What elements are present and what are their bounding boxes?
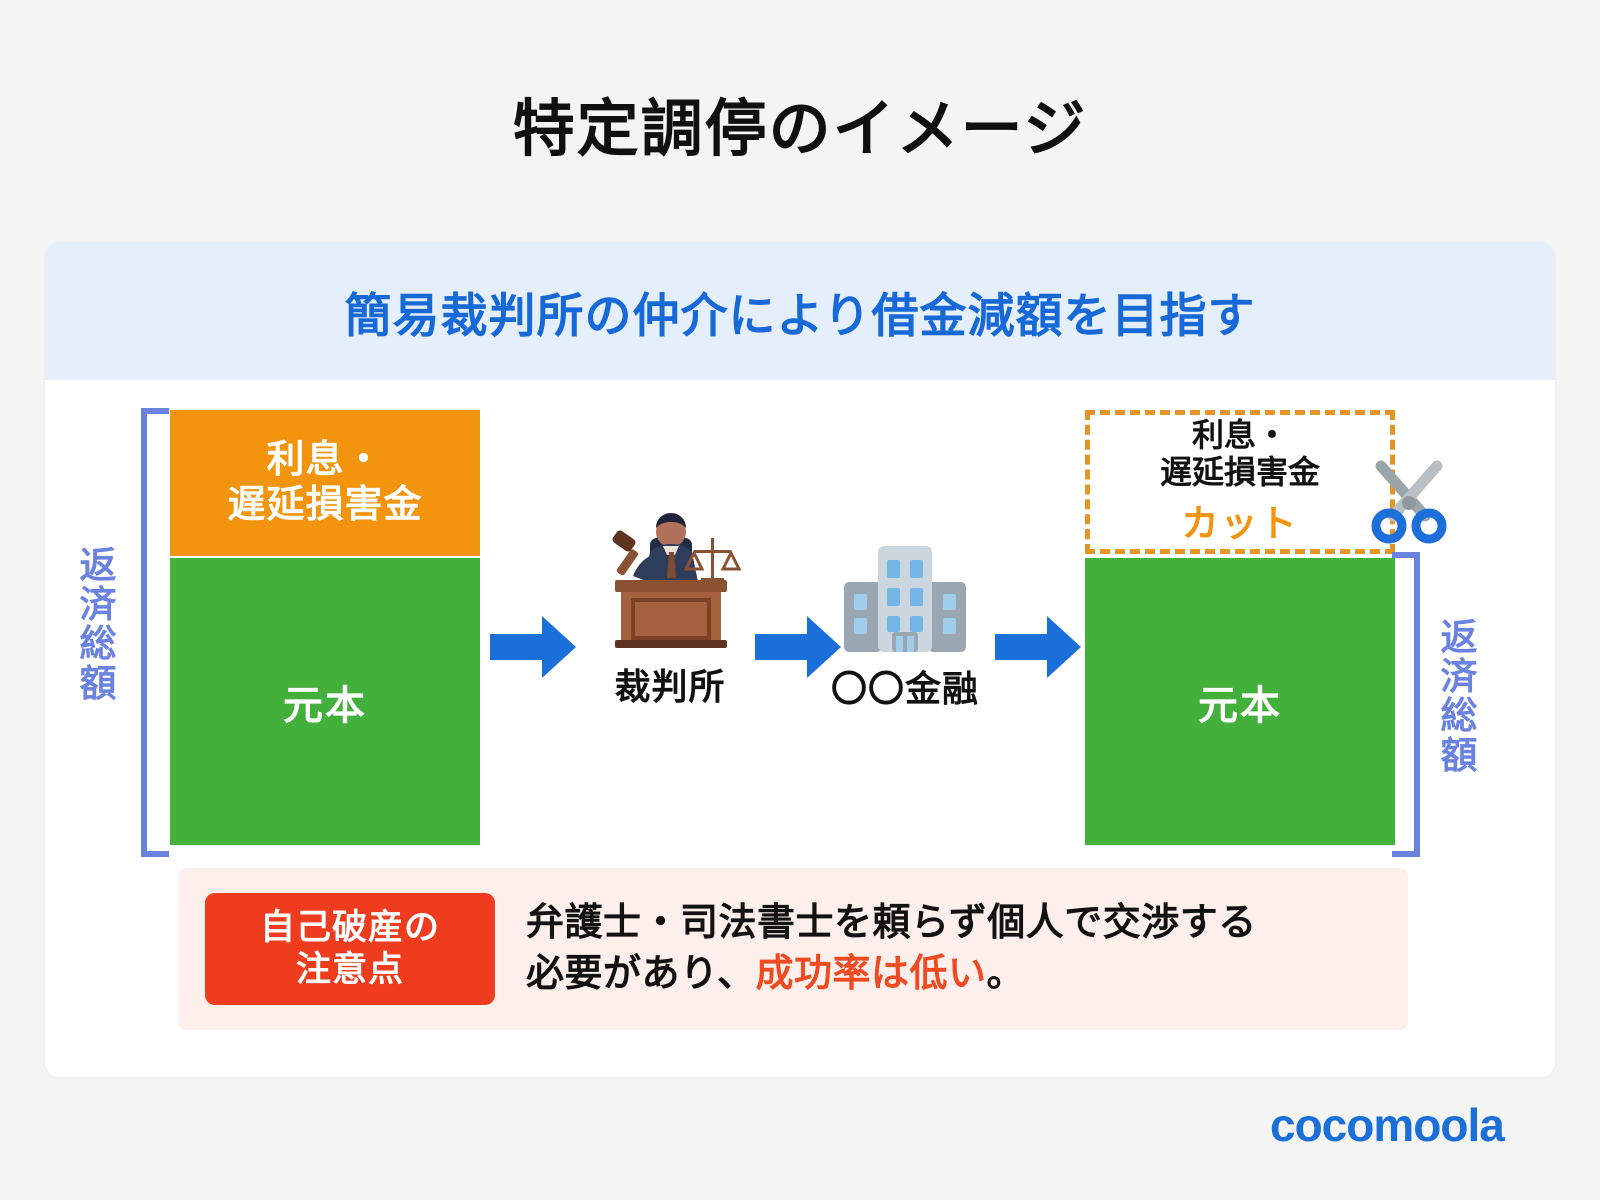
warning-text-part2: 必要があり、: [526, 953, 755, 995]
warning-badge-line1: 自己破産の: [260, 908, 440, 947]
before-total-bracket: [141, 408, 169, 857]
flow-arrow-3-icon: [995, 616, 1081, 678]
after-cut-box: 利息・ 遅延損害金 カット: [1085, 410, 1395, 554]
court-caption: 裁判所: [590, 658, 750, 710]
before-interest-line2: 遅延損害金: [227, 484, 422, 526]
scissors-icon: [1363, 454, 1455, 546]
after-cut-emphasis: カット: [1182, 493, 1299, 547]
warning-box: 自己破産の 注意点 弁護士・司法書士を頼らず個人で交渉する 必要があり、成功率は…: [178, 868, 1408, 1030]
warning-text-highlight: 成功率は低い: [755, 953, 986, 995]
warning-text-part3: 。: [987, 953, 1026, 995]
warning-badge-text: 自己破産の 注意点: [260, 907, 440, 991]
before-interest-label: 利息・ 遅延損害金: [227, 438, 422, 528]
lender-caption: 〇〇金融: [820, 660, 990, 712]
infographic-canvas: 特定調停のイメージ 簡易裁判所の仲介により借金減額を目指す 返済総額 利息・ 遅…: [0, 0, 1600, 1200]
office-building-icon: [840, 540, 970, 652]
after-cut-line2: 遅延損害金: [1160, 454, 1320, 490]
judge-icon: [595, 500, 745, 650]
diagram-card: 簡易裁判所の仲介により借金減額を目指す 返済総額 利息・ 遅延損害金 元本: [45, 242, 1555, 1077]
before-interest-segment: 利息・ 遅延損害金: [170, 410, 480, 556]
before-principal-segment: 元本: [170, 558, 480, 845]
warning-text: 弁護士・司法書士を頼らず個人で交渉する 必要があり、成功率は低い。: [526, 898, 1257, 1001]
after-cut-label: 利息・ 遅延損害金: [1160, 417, 1320, 491]
after-bar: 利息・ 遅延損害金 カット 元本: [1085, 410, 1395, 845]
before-interest-line1: 利息・: [266, 439, 383, 481]
after-principal-label: 元本: [1198, 673, 1282, 731]
warning-text-part1: 弁護士・司法書士を頼らず個人で交渉する: [526, 902, 1257, 944]
page-title: 特定調停のイメージ: [0, 78, 1600, 168]
warning-badge: 自己破産の 注意点: [205, 893, 495, 1005]
after-principal-segment: 元本: [1085, 558, 1395, 845]
warning-badge-line2: 注意点: [296, 950, 404, 989]
after-total-bracket: [1392, 552, 1420, 857]
before-principal-label: 元本: [283, 673, 367, 731]
before-total-label: 返済総額: [77, 546, 119, 703]
banner-text: 簡易裁判所の仲介により借金減額を目指す: [344, 277, 1255, 346]
lender-node: 〇〇金融: [820, 540, 990, 712]
after-cut-line1: 利息・: [1192, 417, 1288, 453]
cocomoola-logo: cocomoola: [1270, 1098, 1504, 1152]
after-total-label: 返済総額: [1438, 618, 1480, 775]
banner: 簡易裁判所の仲介により借金減額を目指す: [45, 242, 1555, 380]
court-node: 裁判所: [590, 500, 750, 710]
flow-arrow-1-icon: [490, 616, 576, 678]
before-bar: 利息・ 遅延損害金 元本: [170, 410, 480, 845]
diagram-body: 返済総額 利息・ 遅延損害金 元本: [45, 380, 1555, 1077]
